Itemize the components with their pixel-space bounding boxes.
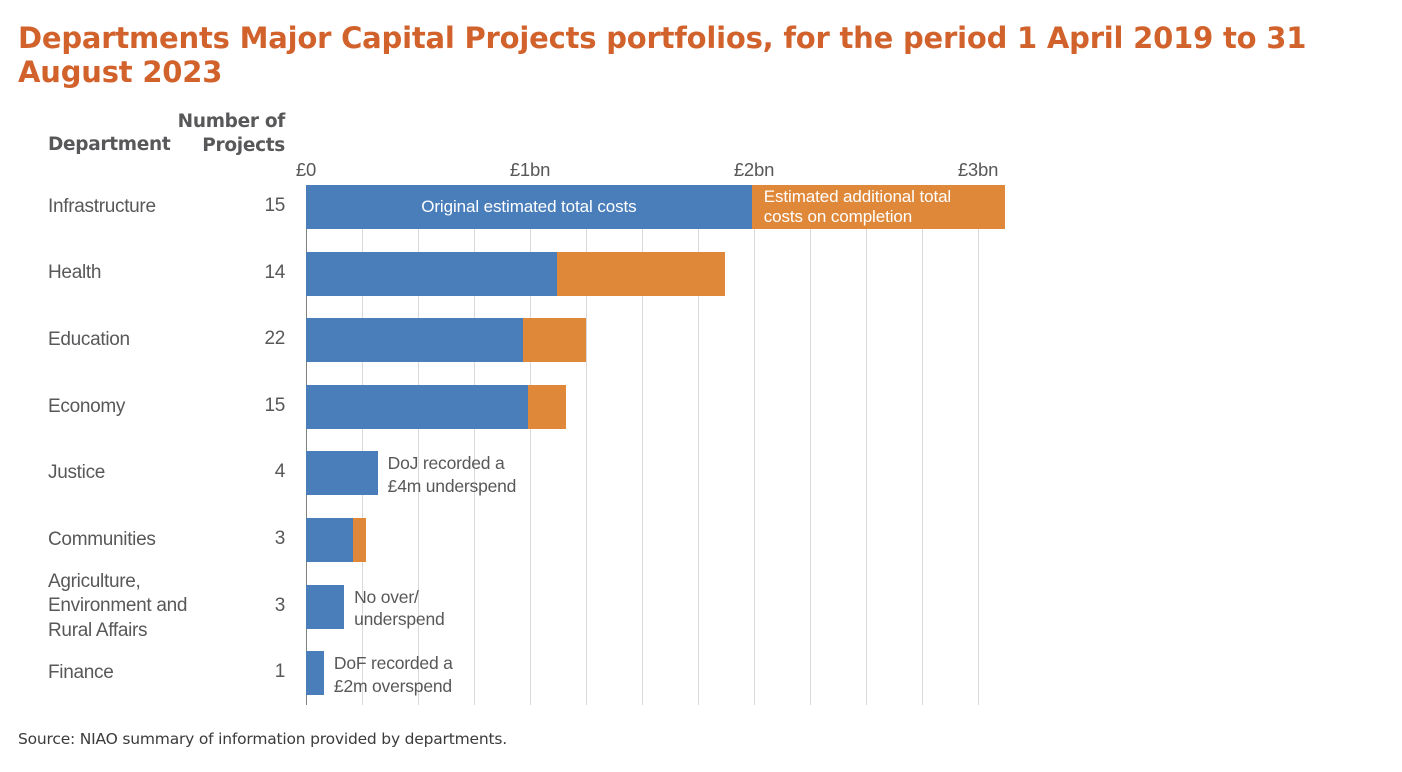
bar-segment-original[interactable] xyxy=(306,385,528,429)
bar-segment-original[interactable] xyxy=(306,185,752,229)
category-label: Economy xyxy=(48,395,223,419)
bar-segment-original[interactable] xyxy=(306,651,324,695)
project-count: 14 xyxy=(200,262,285,284)
project-count: 22 xyxy=(200,328,285,350)
project-count: 15 xyxy=(200,395,285,417)
project-count: 3 xyxy=(200,528,285,550)
x-axis-tick-label: £0 xyxy=(296,159,316,181)
bar-segment-additional[interactable] xyxy=(353,518,366,562)
source-note: Source: NIAO summary of information prov… xyxy=(18,730,507,748)
gridline xyxy=(810,185,811,705)
x-axis-tick-label: £1bn xyxy=(510,159,550,181)
category-label: Justice xyxy=(48,461,223,485)
category-label: Agriculture, Environment and Rural Affai… xyxy=(48,570,223,643)
category-label: Infrastructure xyxy=(48,195,223,219)
project-count: 4 xyxy=(200,461,285,483)
gridline xyxy=(866,185,867,705)
column-header-department: Department xyxy=(48,134,170,155)
bar-segment-additional[interactable] xyxy=(528,385,566,429)
bar-annotation: DoJ recorded a £4m underspend xyxy=(388,452,517,498)
page-title: Departments Major Capital Projects portf… xyxy=(18,22,1358,90)
category-label: Education xyxy=(48,328,223,352)
chart-plot-area: £0£1bn£2bn£3bn Original estimated total … xyxy=(306,185,978,705)
bar-segment-original[interactable] xyxy=(306,585,344,629)
gridline xyxy=(754,185,755,705)
category-label: Health xyxy=(48,261,223,285)
bar-segment-original[interactable] xyxy=(306,518,353,562)
x-axis-tick-label: £3bn xyxy=(958,159,998,181)
bar-segment-additional[interactable] xyxy=(523,318,586,362)
bar-annotation: No over/ underspend xyxy=(354,586,444,632)
category-label: Finance xyxy=(48,661,223,685)
project-count: 3 xyxy=(200,595,285,617)
project-count: 1 xyxy=(200,661,285,683)
project-count: 15 xyxy=(200,195,285,217)
column-header-number-of-projects: Number of Projects xyxy=(165,110,285,158)
bar-segment-additional[interactable] xyxy=(557,252,725,296)
category-label: Communities xyxy=(48,528,223,552)
bar-annotation: DoF recorded a £2m overspend xyxy=(334,652,453,698)
bar-segment-original[interactable] xyxy=(306,451,378,495)
gridline xyxy=(922,185,923,705)
gridline xyxy=(978,185,979,705)
bar-segment-original[interactable] xyxy=(306,318,523,362)
x-axis-tick-label: £2bn xyxy=(734,159,774,181)
bar-segment-additional[interactable] xyxy=(752,185,1005,229)
bar-segment-original[interactable] xyxy=(306,252,557,296)
